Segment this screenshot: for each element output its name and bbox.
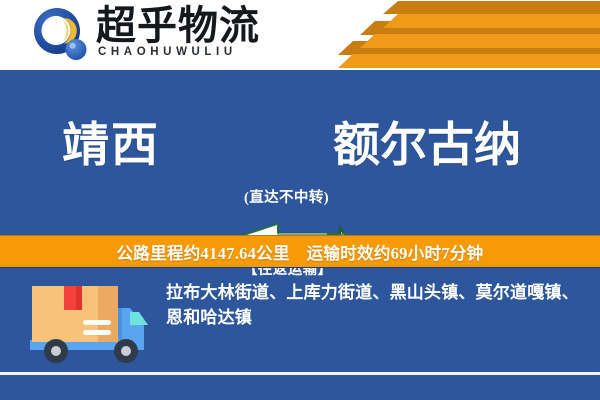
circle-crescent-logo-icon — [32, 7, 90, 65]
distance-duration-text: 公路里程约4147.64公里 运输时效约69小时7分钟 — [117, 240, 484, 264]
brand-name-cn: 超乎物流 — [96, 4, 260, 48]
route-banner: 靖西 (直达不中转) 【往返运输】 额尔古纳 — [0, 70, 600, 235]
brand-name-en: CHAOHUWULIU — [98, 46, 237, 58]
header-bar: 超乎物流 CHAOHUWULIU — [0, 0, 600, 70]
footer-divider — [0, 372, 600, 375]
origin-city-label: 靖西 — [62, 120, 160, 172]
three-orange-stripes-icon — [280, 0, 600, 70]
route-info-bar: 公路里程约4147.64公里 运输时效约69小时7分钟 — [0, 235, 600, 268]
logistics-route-poster: 超乎物流 CHAOHUWULIU 靖西 (直达不中转) 【往返运输】 额 — [0, 0, 600, 400]
direct-shipping-note: (直达不中转) — [244, 186, 329, 207]
coverage-area-section: 拉布大林街道、上库力街道、黑山头镇、莫尔道嘎镇、恩和哈达镇 — [0, 268, 600, 400]
coverage-areas-text: 拉布大林街道、上库力街道、黑山头镇、莫尔道嘎镇、恩和哈达镇 — [166, 280, 584, 330]
delivery-truck-icon — [26, 278, 148, 370]
destination-city-label: 额尔古纳 — [333, 120, 521, 172]
